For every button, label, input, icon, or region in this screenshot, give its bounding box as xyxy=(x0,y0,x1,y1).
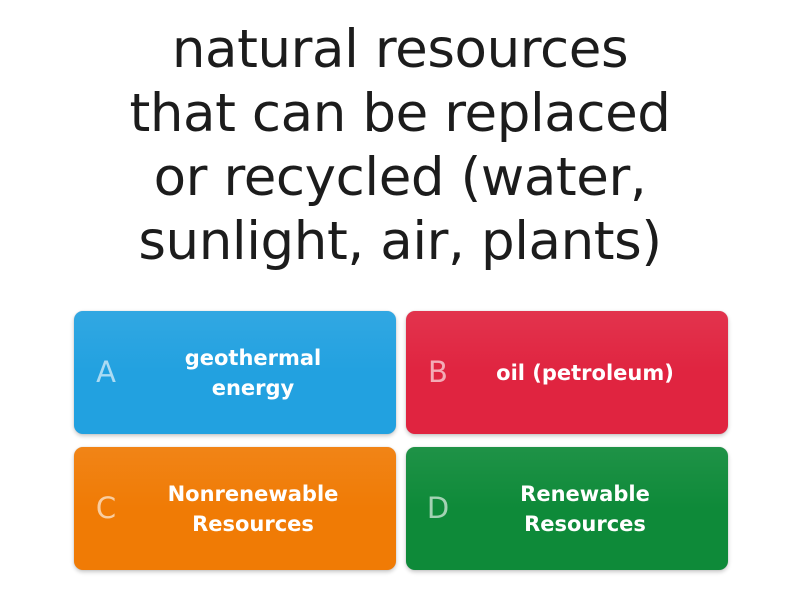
answer-label-a: geothermal energy xyxy=(128,343,382,403)
answer-card-c[interactable]: C Nonrenewable Resources xyxy=(74,447,396,570)
answer-letter-c: C xyxy=(84,494,128,523)
answer-letter-a: A xyxy=(84,358,128,387)
answer-card-a[interactable]: A geothermal energy xyxy=(74,311,396,434)
answer-label-d: Renewable Resources xyxy=(460,479,714,539)
answer-card-b[interactable]: B oil (petroleum) xyxy=(406,311,728,434)
answer-letter-d: D xyxy=(416,494,460,523)
question-area: natural resources that can be replaced o… xyxy=(0,0,800,274)
answer-options-grid: A geothermal energy B oil (petroleum) C … xyxy=(74,311,728,570)
answer-letter-b: B xyxy=(416,358,460,387)
answer-label-c: Nonrenewable Resources xyxy=(128,479,382,539)
answer-card-d[interactable]: D Renewable Resources xyxy=(406,447,728,570)
question-text: natural resources that can be replaced o… xyxy=(60,18,740,274)
quiz-slide: natural resources that can be replaced o… xyxy=(0,0,800,600)
answer-label-b: oil (petroleum) xyxy=(460,358,714,388)
